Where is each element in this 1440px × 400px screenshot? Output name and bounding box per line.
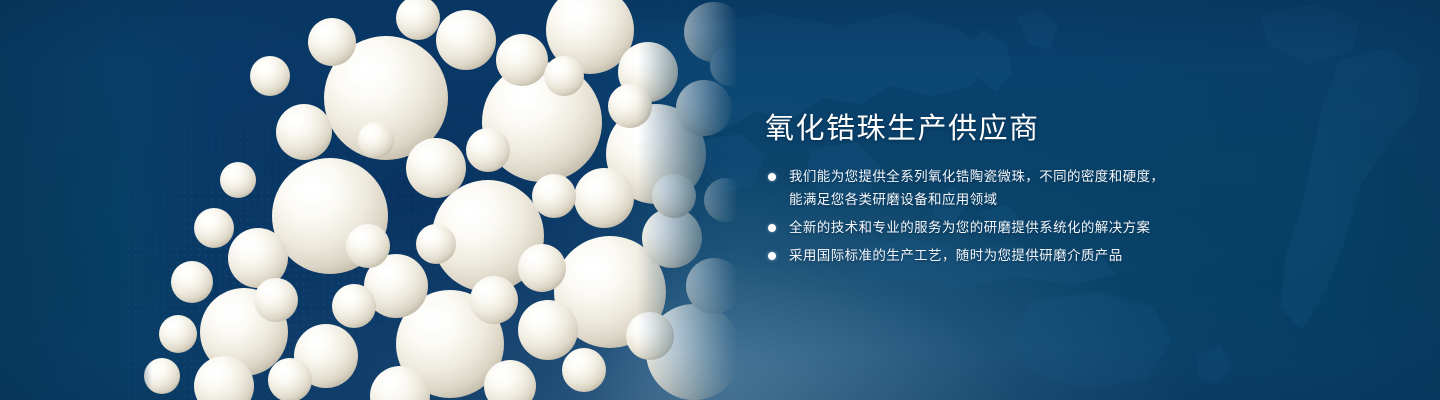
- bullet-dot-icon: [768, 252, 776, 260]
- list-item-line: 我们能为您提供全系列氧化锆陶瓷微珠，不同的密度和硬度，: [789, 165, 1235, 188]
- list-item-line: 采用国际标准的生产工艺，随时为您提供研磨介质产品: [789, 244, 1235, 267]
- bead-cluster: [118, 0, 738, 400]
- banner-copy: 氧化锆珠生产供应商 我们能为您提供全系列氧化锆陶瓷微珠，不同的密度和硬度， 能满…: [765, 110, 1235, 272]
- list-item: 我们能为您提供全系列氧化锆陶瓷微珠，不同的密度和硬度， 能满足您各类研磨设备和应…: [765, 165, 1235, 211]
- bullet-dot-icon: [768, 224, 776, 232]
- list-item: 采用国际标准的生产工艺，随时为您提供研磨介质产品: [765, 244, 1235, 267]
- bullet-dot-icon: [768, 173, 776, 181]
- zirconia-beads-photo: [118, 0, 738, 400]
- list-item-line: 全新的技术和专业的服务为您的研磨提供系统化的解决方案: [789, 216, 1235, 239]
- list-item-line: 能满足您各类研磨设备和应用领域: [789, 188, 1235, 211]
- list-item: 全新的技术和专业的服务为您的研磨提供系统化的解决方案: [765, 216, 1235, 239]
- promo-banner: 氧化锆珠生产供应商 我们能为您提供全系列氧化锆陶瓷微珠，不同的密度和硬度， 能满…: [0, 0, 1440, 400]
- feature-list: 我们能为您提供全系列氧化锆陶瓷微珠，不同的密度和硬度， 能满足您各类研磨设备和应…: [765, 165, 1235, 267]
- page-title: 氧化锆珠生产供应商: [765, 110, 1235, 148]
